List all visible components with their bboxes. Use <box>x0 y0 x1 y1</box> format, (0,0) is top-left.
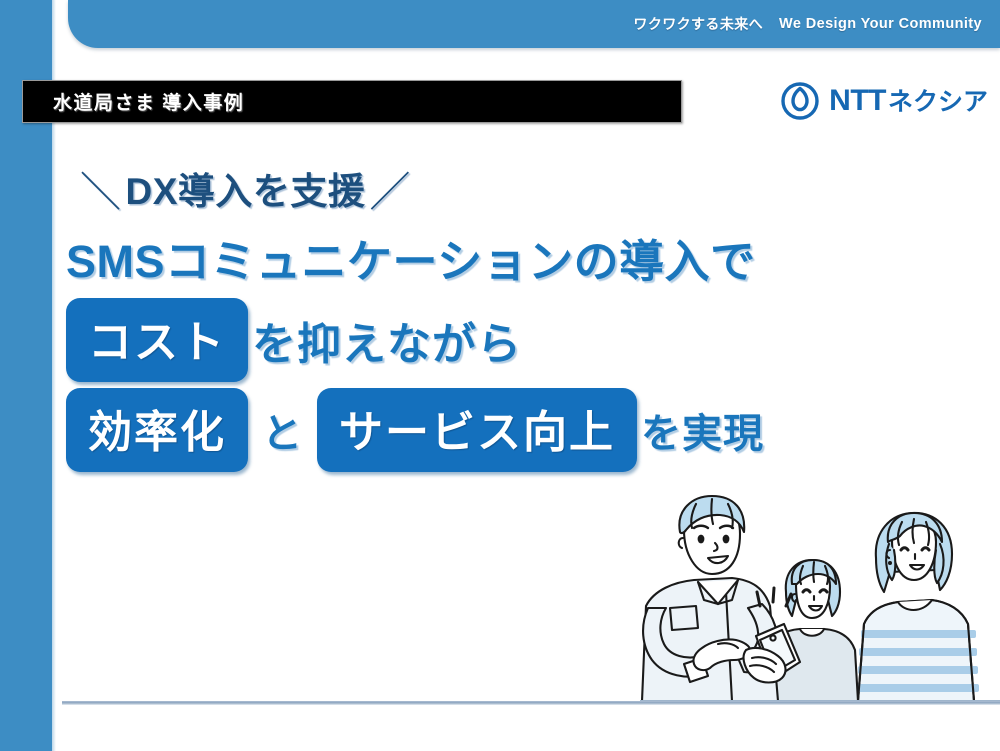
headline-conjunction: と <box>248 401 317 459</box>
ntt-nexia-logo: NTT ネクシア <box>780 78 988 124</box>
logo-ntt-text: NTT <box>829 86 886 116</box>
headline-line-2: コスト を抑えながら <box>66 302 966 378</box>
eyebrow-close-slash: ／ <box>365 158 415 218</box>
badge-efficiency: 効率化 <box>66 388 248 472</box>
family-smartphone-illustration <box>640 488 1000 704</box>
headline-line-1: SMSコミュニケーションの導入で <box>66 228 966 286</box>
badge-service-improvement: サービス向上 <box>317 388 637 472</box>
badge-cost: コスト <box>66 298 248 382</box>
headline-line-3-tail: を実現 <box>637 401 768 459</box>
headline-line-2-tail: を抑えながら <box>248 308 526 372</box>
eyebrow-open-slash: ＼ <box>76 158 126 218</box>
slide-canvas: ワクワクする未来へ We Design Your Community 水道局さま… <box>0 0 1000 751</box>
top-banner-tagline: ワクワクする未来へ We Design Your Community <box>633 0 982 48</box>
headline-line-3: 効率化 と サービス向上 を実現 <box>66 392 966 468</box>
eyebrow-dx-support: ＼ DX導入を支援 ／ <box>76 158 415 218</box>
case-study-label-text: 水道局さま 導入事例 <box>53 81 244 122</box>
logo-nexia-text: ネクシア <box>888 90 988 115</box>
ntt-circle-logo-icon <box>780 81 820 121</box>
top-banner: ワクワクする未来へ We Design Your Community <box>68 0 1000 48</box>
headline-block: SMSコミュニケーションの導入で コスト を抑えながら 効率化 と サービス向上… <box>66 228 966 468</box>
logo-wordmark: NTT ネクシア <box>829 86 988 116</box>
bottom-divider <box>62 701 1000 705</box>
tagline-english: We Design Your Community <box>779 16 982 32</box>
tagline-japanese: ワクワクする未来へ <box>633 14 763 34</box>
eyebrow-text: DX導入を支援 <box>126 161 366 215</box>
case-study-label-banner: 水道局さま 導入事例 <box>22 80 682 123</box>
